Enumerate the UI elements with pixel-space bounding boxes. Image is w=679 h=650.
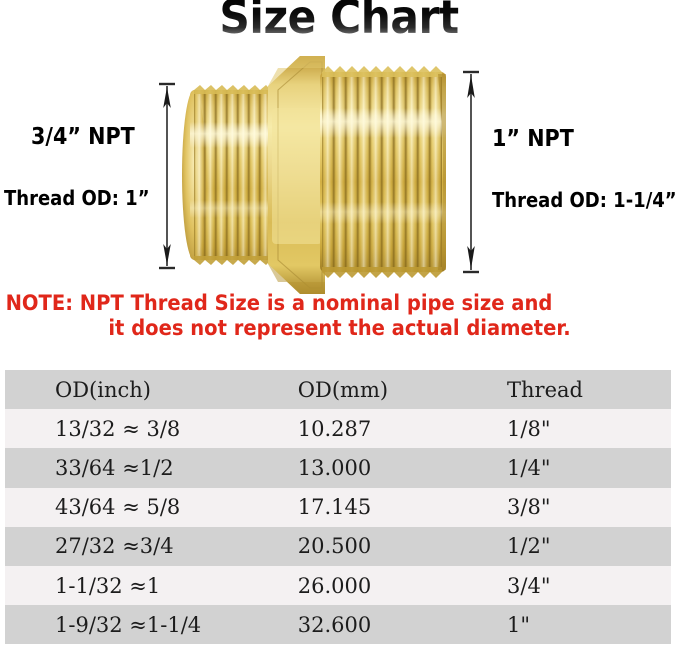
- cell-od-inch: 27/32 ≈3/4: [5, 527, 248, 566]
- cell-od-inch: 33/64 ≈1/2: [5, 448, 248, 487]
- cell-thread: 1": [457, 605, 671, 644]
- cell-od-mm: 32.600: [248, 605, 457, 644]
- page-title-container: Size Chart: [0, 0, 679, 43]
- page-title: Size Chart: [220, 0, 459, 43]
- right-dimension-arrow: [460, 70, 482, 274]
- label-left-thread-od: Thread OD: 1”: [4, 186, 150, 210]
- note-line-2: it does not represent the actual diamete…: [24, 316, 655, 341]
- small-thread-section: [182, 85, 272, 265]
- cell-od-mm: 26.000: [248, 566, 457, 605]
- cell-od-mm: 20.500: [248, 527, 457, 566]
- table-row: 1-1/32 ≈1 26.000 3/4": [5, 566, 671, 605]
- label-right-npt: 1” NPT: [492, 126, 574, 152]
- table-header-row: OD(inch) OD(mm) Thread: [5, 370, 671, 409]
- table-row: 43/64 ≈ 5/8 17.145 3/8": [5, 488, 671, 527]
- left-dimension-arrow: [156, 82, 178, 270]
- label-right-thread-od: Thread OD: 1-1/4”: [492, 188, 677, 212]
- table-row: 13/32 ≈ 3/8 10.287 1/8": [5, 409, 671, 448]
- product-illustration: [150, 50, 500, 300]
- note-block: NOTE: NPT Thread Size is a nominal pipe …: [0, 291, 679, 341]
- header-thread: Thread: [457, 370, 671, 409]
- cell-thread: 3/4": [457, 566, 671, 605]
- cell-od-inch: 1-9/32 ≈1-1/4: [5, 605, 248, 644]
- cell-od-mm: 17.145: [248, 488, 457, 527]
- header-od-inch: OD(inch): [5, 370, 248, 409]
- table-row: 27/32 ≈3/4 20.500 1/2": [5, 527, 671, 566]
- hex-center-section: [268, 56, 325, 294]
- table-row: 33/64 ≈1/2 13.000 1/4": [5, 448, 671, 487]
- header-od-mm: OD(mm): [248, 370, 457, 409]
- size-table: OD(inch) OD(mm) Thread 13/32 ≈ 3/8 10.28…: [5, 370, 671, 644]
- cell-thread: 1/2": [457, 527, 671, 566]
- cell-thread: 3/8": [457, 488, 671, 527]
- cell-od-inch: 1-1/32 ≈1: [5, 566, 248, 605]
- cell-od-inch: 13/32 ≈ 3/8: [5, 409, 248, 448]
- cell-od-mm: 13.000: [248, 448, 457, 487]
- large-thread-section: [320, 66, 446, 278]
- cell-od-inch: 43/64 ≈ 5/8: [5, 488, 248, 527]
- label-left-npt: 3/4” NPT: [31, 124, 135, 150]
- table-row: 1-9/32 ≈1-1/4 32.600 1": [5, 605, 671, 644]
- cell-thread: 1/8": [457, 409, 671, 448]
- note-line-1: NOTE: NPT Thread Size is a nominal pipe …: [0, 291, 631, 316]
- cell-od-mm: 10.287: [248, 409, 457, 448]
- cell-thread: 1/4": [457, 448, 671, 487]
